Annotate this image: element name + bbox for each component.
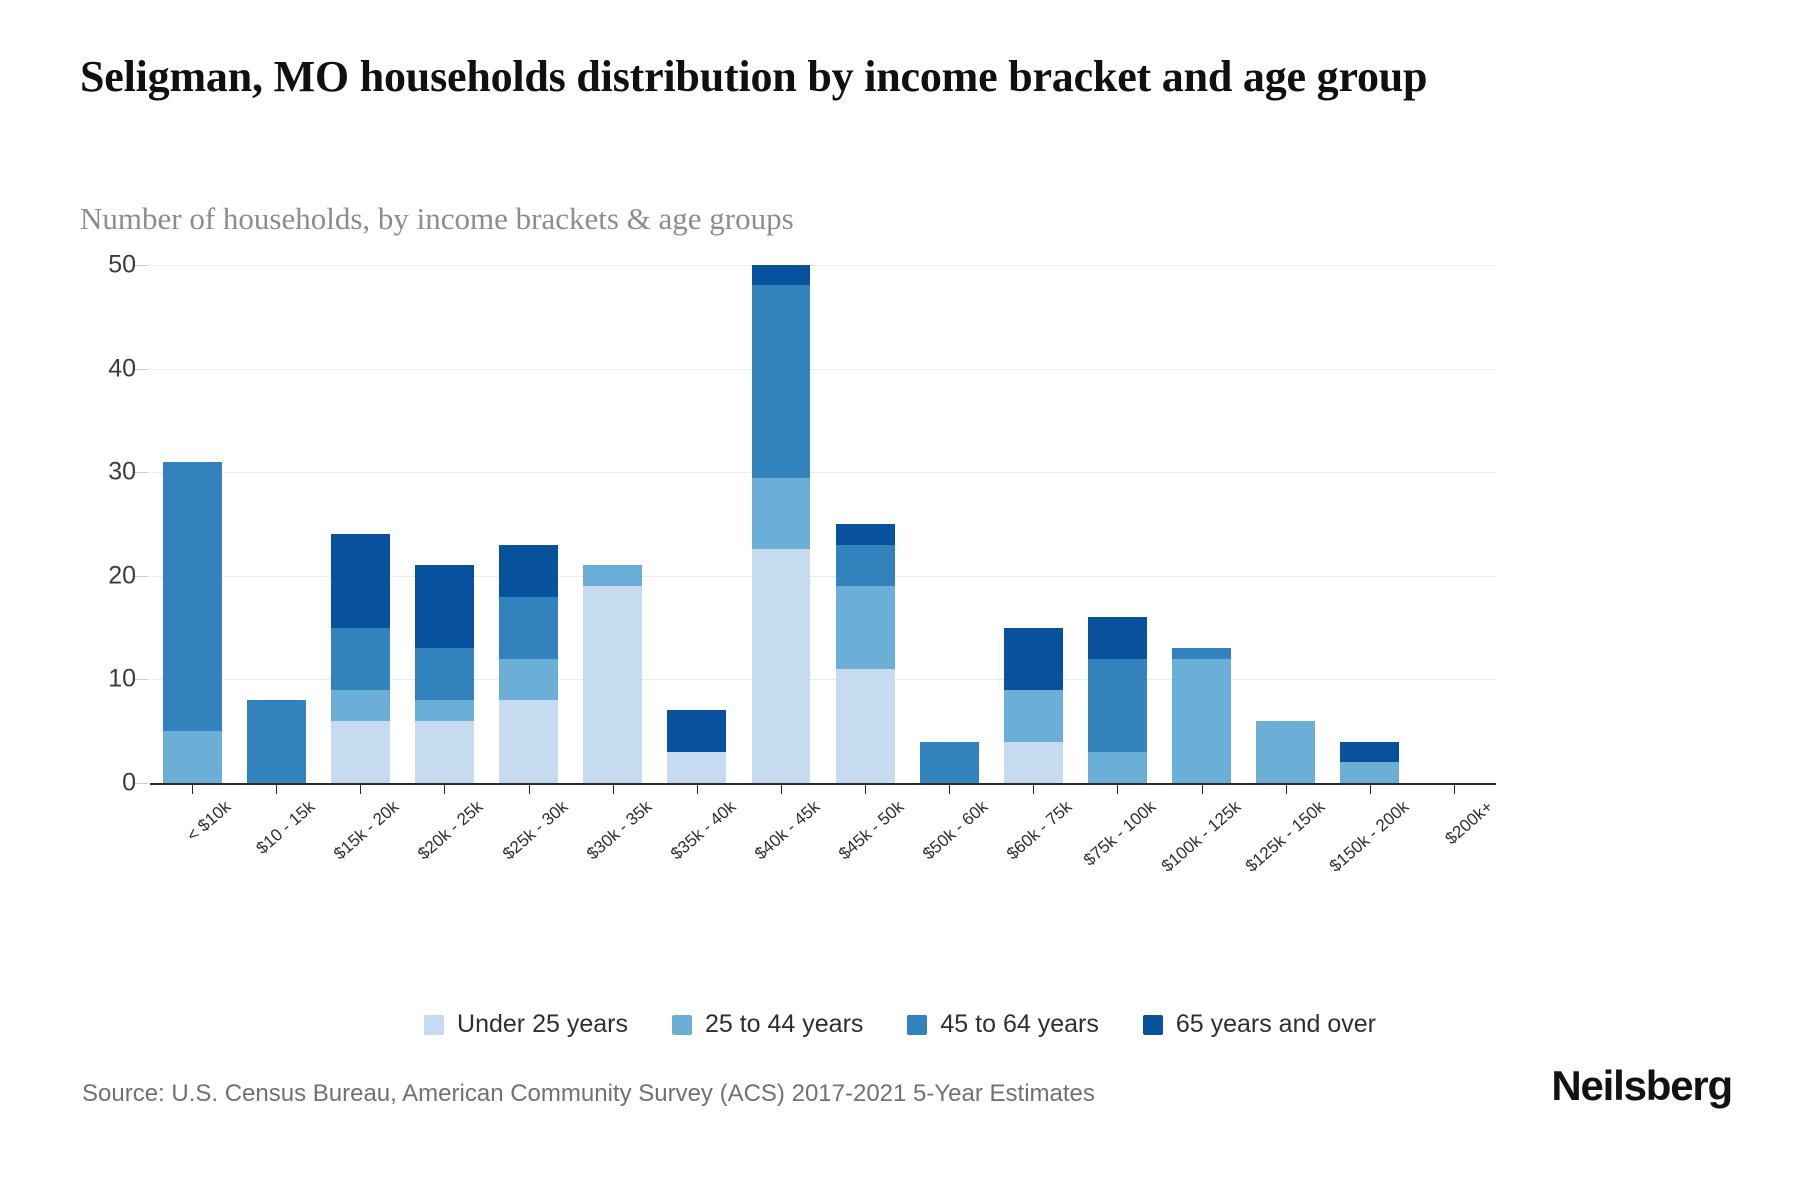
- bar-segment[interactable]: [836, 586, 895, 669]
- legend-item[interactable]: Under 25 years: [424, 1010, 628, 1039]
- bar-segment[interactable]: [583, 565, 642, 586]
- bar-group[interactable]: [991, 265, 1075, 783]
- page-title: Seligman, MO households distribution by …: [80, 50, 1640, 104]
- bar-stack[interactable]: [583, 265, 642, 783]
- bar-segment[interactable]: [331, 721, 390, 783]
- legend-swatch-icon: [424, 1015, 444, 1035]
- bar-segment[interactable]: [163, 731, 222, 783]
- bar-stack[interactable]: [247, 265, 306, 783]
- bar-segment[interactable]: [752, 265, 811, 285]
- bar-stack[interactable]: [163, 265, 222, 783]
- x-axis-tick-mark: [1454, 783, 1455, 794]
- x-axis-tick-mark: [613, 783, 614, 794]
- x-axis-tick-mark: [276, 783, 277, 794]
- x-axis-tick-mark: [949, 783, 950, 794]
- x-axis-tick-mark: [1117, 783, 1118, 794]
- source-note: Source: U.S. Census Bureau, American Com…: [82, 1080, 1095, 1108]
- y-axis-tick-mark: [134, 369, 148, 370]
- y-axis-tick-label: 40: [16, 354, 136, 383]
- x-axis-tick-label: $20k - 25k: [415, 797, 488, 864]
- x-axis-tick-label: $150k - 200k: [1326, 797, 1413, 877]
- chart-page: Seligman, MO households distribution by …: [0, 0, 1800, 1200]
- bar-stack[interactable]: [752, 265, 811, 783]
- bar-segment[interactable]: [331, 690, 390, 721]
- bar-group[interactable]: [1160, 265, 1244, 783]
- bar-group[interactable]: [739, 265, 823, 783]
- bar-group[interactable]: [487, 265, 571, 783]
- bar-stack[interactable]: [920, 265, 979, 783]
- x-axis-tick-mark: [1370, 783, 1371, 794]
- legend-item-label: 45 to 64 years: [940, 1010, 1098, 1039]
- bar-group[interactable]: [907, 265, 991, 783]
- x-axis-tick-label: $15k - 20k: [330, 797, 403, 864]
- y-axis-tick-mark: [134, 679, 148, 680]
- bar-group[interactable]: [571, 265, 655, 783]
- bar-segment[interactable]: [583, 586, 642, 783]
- bar-segment[interactable]: [163, 462, 222, 731]
- bar-stack[interactable]: [1340, 265, 1399, 783]
- bar-stack[interactable]: [836, 265, 895, 783]
- bar-segment[interactable]: [752, 549, 811, 783]
- bar-segment[interactable]: [1256, 721, 1315, 783]
- bar-segment[interactable]: [667, 710, 726, 751]
- x-axis-tick-label: $125k - 150k: [1242, 797, 1329, 877]
- legend-item-label: 65 years and over: [1176, 1010, 1376, 1039]
- x-axis-tick-label: $40k - 45k: [751, 797, 824, 864]
- bar-segment[interactable]: [499, 597, 558, 659]
- x-axis-tick-mark: [444, 783, 445, 794]
- chart-subtitle: Number of households, by income brackets…: [80, 200, 1480, 237]
- y-axis-tick-mark: [134, 576, 148, 577]
- bar-segment[interactable]: [836, 524, 895, 545]
- brand-logo: Neilsberg: [1551, 1062, 1732, 1110]
- legend-swatch-icon: [907, 1015, 927, 1035]
- y-axis-tick-label: 10: [16, 665, 136, 694]
- x-axis-tick-label: $200k+: [1441, 797, 1497, 849]
- y-axis-tick-label: 20: [16, 561, 136, 590]
- x-axis-tick-label: $25k - 30k: [499, 797, 572, 864]
- x-axis-tick-label: $50k - 60k: [919, 797, 992, 864]
- bar-segment[interactable]: [752, 285, 811, 478]
- chart-legend: Under 25 years25 to 44 years45 to 64 yea…: [0, 1010, 1800, 1039]
- bar-segment[interactable]: [331, 628, 390, 690]
- x-axis-tick-mark: [865, 783, 866, 794]
- bar-stack[interactable]: [1004, 265, 1063, 783]
- bar-group[interactable]: [1412, 265, 1496, 783]
- x-axis-tick-mark: [1286, 783, 1287, 794]
- x-axis-tick-label: $30k - 35k: [583, 797, 656, 864]
- y-axis-tick-mark: [134, 472, 148, 473]
- x-axis-tick-mark: [360, 783, 361, 794]
- bar-segment[interactable]: [1088, 752, 1147, 783]
- bar-segment[interactable]: [836, 669, 895, 783]
- bar-segment[interactable]: [415, 721, 474, 783]
- legend-item[interactable]: 45 to 64 years: [907, 1010, 1098, 1039]
- x-axis-tick-label: $35k - 40k: [667, 797, 740, 864]
- bar-segment[interactable]: [1004, 742, 1063, 783]
- bar-segment[interactable]: [415, 648, 474, 700]
- bar-segment[interactable]: [499, 700, 558, 783]
- bar-segment[interactable]: [1172, 659, 1231, 783]
- x-axis-tick-mark: [529, 783, 530, 794]
- bar-segment[interactable]: [499, 659, 558, 700]
- bar-stack[interactable]: [1088, 265, 1147, 783]
- x-axis-tick-mark: [781, 783, 782, 794]
- x-axis-tick-label: $45k - 50k: [835, 797, 908, 864]
- y-axis-tick-label: 30: [16, 458, 136, 487]
- bar-group[interactable]: [318, 265, 402, 783]
- y-axis-tick-label: 50: [16, 251, 136, 280]
- bar-group[interactable]: [402, 265, 486, 783]
- legend-item-label: Under 25 years: [457, 1010, 628, 1039]
- x-axis-tick-mark: [1033, 783, 1034, 794]
- bar-stack[interactable]: [1172, 265, 1231, 783]
- x-axis-ticks: [150, 783, 1496, 795]
- bar-group[interactable]: [150, 265, 234, 783]
- x-axis-tick-label: $60k - 75k: [1003, 797, 1076, 864]
- bar-group[interactable]: [1244, 265, 1328, 783]
- x-axis-tick-mark: [1202, 783, 1203, 794]
- y-axis-tick-mark: [134, 783, 148, 784]
- bar-segment[interactable]: [415, 565, 474, 648]
- legend-item[interactable]: 65 years and over: [1143, 1010, 1376, 1039]
- bar-stack[interactable]: [331, 265, 390, 783]
- x-axis-labels: < $10k$10 - 15k$15k - 20k$20k - 25k$25k …: [150, 797, 1496, 947]
- bar-segment[interactable]: [1340, 742, 1399, 763]
- bar-stack[interactable]: [1256, 265, 1315, 783]
- bar-segment[interactable]: [1004, 628, 1063, 690]
- bar-segment[interactable]: [836, 545, 895, 586]
- bar-stack[interactable]: [1425, 265, 1484, 783]
- bar-group[interactable]: [1328, 265, 1412, 783]
- legend-swatch-icon: [1143, 1015, 1163, 1035]
- bar-stack[interactable]: [667, 265, 726, 783]
- x-axis-tick-label: $10 - 15k: [253, 797, 320, 859]
- bar-segment[interactable]: [752, 478, 811, 549]
- bar-stack[interactable]: [415, 265, 474, 783]
- bar-series-container: [150, 265, 1496, 783]
- legend-swatch-icon: [672, 1015, 692, 1035]
- bar-segment[interactable]: [1088, 659, 1147, 752]
- x-axis-tick-label: $100k - 125k: [1157, 797, 1244, 877]
- x-axis-tick-mark: [192, 783, 193, 794]
- bar-segment[interactable]: [920, 742, 979, 783]
- plot-area: < $10k$10 - 15k$15k - 20k$20k - 25k$25k …: [150, 265, 1496, 783]
- legend-item-label: 25 to 44 years: [705, 1010, 863, 1039]
- bar-segment[interactable]: [331, 534, 390, 627]
- bar-segment[interactable]: [415, 700, 474, 721]
- y-axis-tick-mark: [134, 265, 148, 266]
- bar-segment[interactable]: [1004, 690, 1063, 742]
- x-axis-tick-label: < $10k: [183, 797, 235, 846]
- bar-segment[interactable]: [1088, 617, 1147, 658]
- bar-group[interactable]: [823, 265, 907, 783]
- bar-segment[interactable]: [1172, 648, 1231, 658]
- bar-segment[interactable]: [667, 752, 726, 783]
- bar-group[interactable]: [234, 265, 318, 783]
- bar-segment[interactable]: [1340, 762, 1399, 783]
- x-axis-tick-label: $75k - 100k: [1080, 797, 1160, 870]
- bar-stack[interactable]: [499, 265, 558, 783]
- legend-item[interactable]: 25 to 44 years: [672, 1010, 863, 1039]
- bar-segment[interactable]: [499, 545, 558, 597]
- bar-group[interactable]: [655, 265, 739, 783]
- y-axis-tick-label: 0: [16, 769, 136, 798]
- x-axis-tick-mark: [697, 783, 698, 794]
- bar-segment[interactable]: [247, 700, 306, 783]
- bar-group[interactable]: [1075, 265, 1159, 783]
